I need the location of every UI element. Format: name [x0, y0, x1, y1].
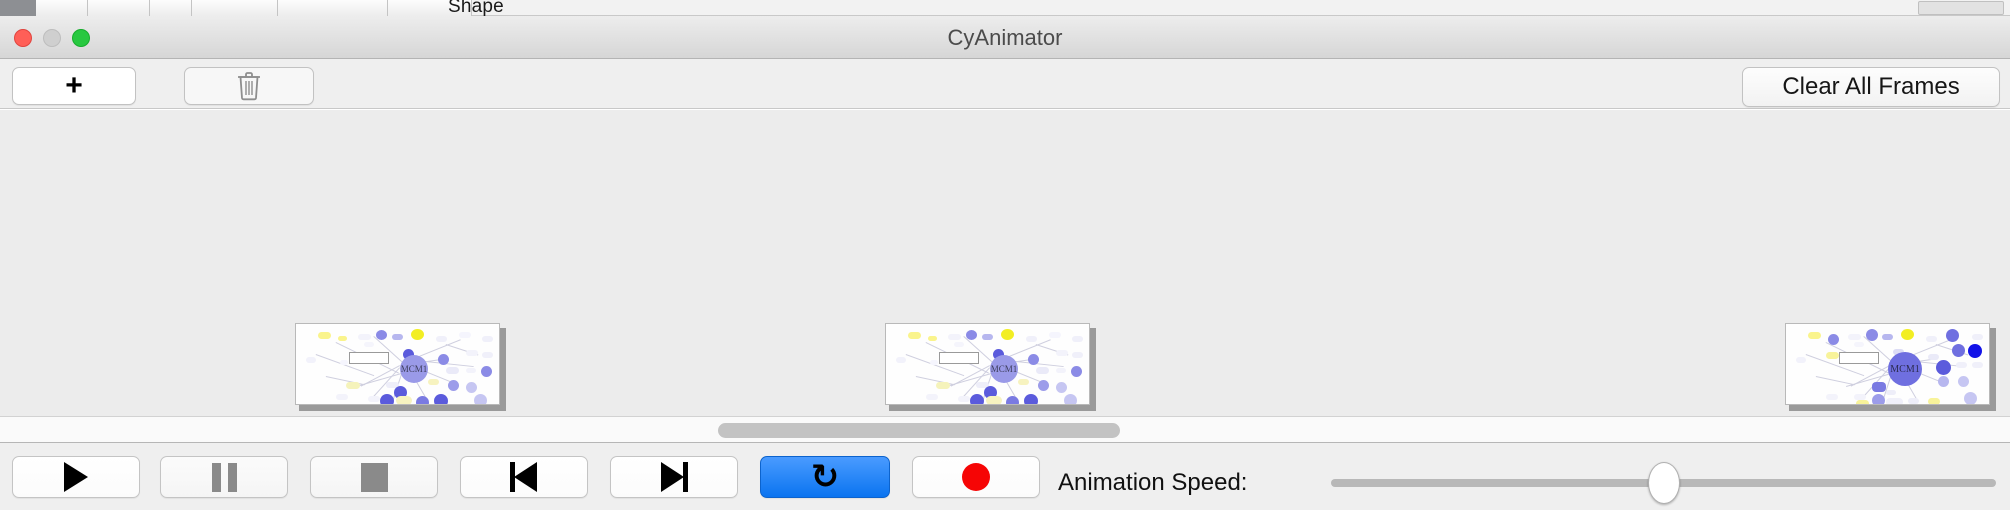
trash-icon [236, 71, 262, 101]
background-tab [278, 0, 388, 16]
loop-button[interactable]: ↻ [760, 456, 890, 498]
pause-icon [212, 463, 237, 492]
background-tab [192, 0, 278, 16]
background-tab [88, 0, 150, 16]
frame-thumbnail-network: MCM1 [1785, 323, 1990, 405]
skip-previous-button[interactable] [460, 456, 588, 498]
clear-all-frames-button[interactable]: Clear All Frames [1742, 67, 2000, 107]
timeline-scrollbar[interactable] [0, 417, 2010, 443]
app-root: Shape CyAnimator + Clear All Frames [0, 0, 2010, 510]
frame-thumbnail-network: MCM1 [295, 323, 500, 405]
skip-next-button[interactable] [610, 456, 738, 498]
scrollbar-thumb[interactable] [718, 423, 1120, 438]
background-tab [150, 0, 192, 16]
delete-frame-button[interactable] [184, 67, 314, 105]
timeline-frame-1[interactable]: MCM1 [295, 323, 506, 411]
frame-toolbar: + Clear All Frames [0, 59, 2010, 109]
record-icon [962, 463, 990, 491]
title-bar: CyAnimator [0, 16, 2010, 59]
record-button[interactable] [912, 456, 1040, 498]
window-title: CyAnimator [0, 25, 2010, 51]
playback-bar: ↻ Animation Speed: [0, 443, 2010, 510]
skip-next-icon [660, 462, 688, 492]
timeline-frame-3[interactable]: MCM1 [1785, 323, 1996, 411]
pause-button[interactable] [160, 456, 288, 498]
loop-icon: ↻ [811, 460, 840, 494]
background-right-control [1918, 1, 2004, 15]
animation-speed-label: Animation Speed: [1058, 469, 1247, 497]
background-window-strip: Shape [0, 0, 2010, 16]
background-tab [36, 0, 88, 16]
stop-icon [361, 463, 388, 492]
slider-thumb[interactable] [1648, 462, 1680, 504]
timeline-pane[interactable]: MCM1 [0, 110, 2010, 417]
animation-speed-slider[interactable] [1331, 479, 1996, 487]
play-button[interactable] [12, 456, 140, 498]
skip-previous-icon [510, 462, 538, 492]
plus-icon: + [65, 71, 83, 101]
stop-button[interactable] [310, 456, 438, 498]
background-chrome-block [0, 0, 36, 16]
play-icon [64, 462, 88, 492]
add-frame-button[interactable]: + [12, 67, 136, 105]
timeline-frame-2[interactable]: MCM1 [885, 323, 1096, 411]
frame-thumbnail-network: MCM1 [885, 323, 1090, 405]
